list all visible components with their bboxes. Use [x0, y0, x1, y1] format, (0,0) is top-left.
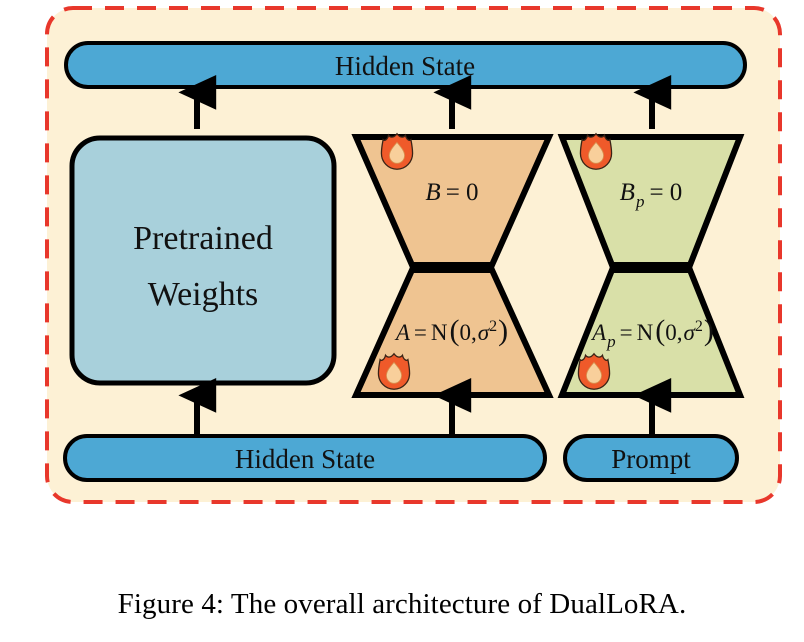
top-hidden-state-label: Hidden State: [335, 51, 475, 81]
architecture-diagram: Hidden State Pretrained Weights B= 0: [0, 0, 804, 580]
input-hidden-state[interactable]: Hidden State: [65, 436, 545, 480]
flame-icon: [578, 354, 609, 390]
bottom-hidden-state-label: Hidden State: [235, 444, 375, 474]
figure-caption: Figure 4: The overall architecture of Du…: [0, 588, 804, 621]
figure-container: Hidden State Pretrained Weights B= 0: [0, 0, 804, 642]
flame-icon: [580, 134, 611, 170]
pretrained-weights-node[interactable]: Pretrained Weights: [72, 138, 334, 383]
flame-icon: [381, 134, 412, 170]
pretrained-weights-box: [72, 138, 334, 383]
lora-main-B-label: B= 0: [425, 179, 478, 206]
input-prompt[interactable]: Prompt: [565, 436, 737, 480]
pretrained-weights-label-line1: Pretrained: [133, 220, 273, 257]
bottom-prompt-label: Prompt: [611, 444, 691, 474]
top-hidden-state-node[interactable]: Hidden State: [66, 43, 745, 87]
flame-icon: [378, 354, 409, 390]
pretrained-weights-label-line2: Weights: [148, 276, 259, 313]
